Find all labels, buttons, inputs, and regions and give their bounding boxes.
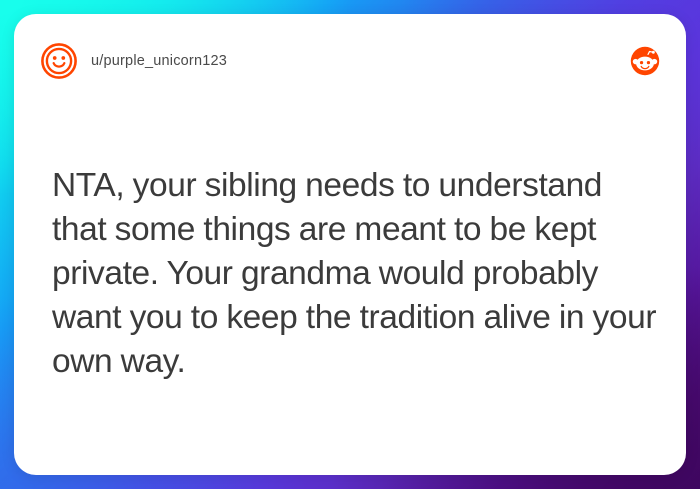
username-label: u/purple_unicorn123: [91, 53, 227, 69]
reddit-comment-card: u/purple_unicorn123: [14, 14, 686, 475]
gradient-background: u/purple_unicorn123: [0, 0, 700, 489]
card-body: NTA, your sibling needs to understand th…: [52, 164, 660, 384]
smiley-face-avatar-icon[interactable]: [40, 42, 78, 80]
reddit-snoo-icon[interactable]: [630, 46, 660, 76]
comment-text: NTA, your sibling needs to understand th…: [52, 164, 660, 384]
card-header: u/purple_unicorn123: [40, 38, 660, 84]
